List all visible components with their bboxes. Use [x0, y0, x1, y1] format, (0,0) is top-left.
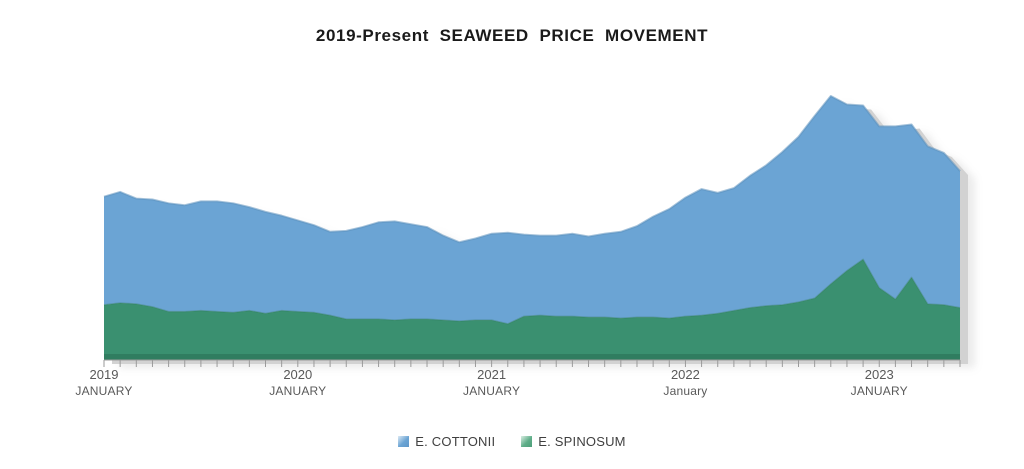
x-axis-label-2022: 2022January: [625, 366, 745, 400]
series-group: [104, 96, 960, 360]
x-axis-label-year: 2021: [432, 366, 552, 383]
chart-container: 2019-Present SEAWEED PRICE MOVEMENT: [0, 0, 1024, 469]
x-axis-label-year: 2022: [625, 366, 745, 383]
x-axis-label-month: JANUARY: [238, 383, 358, 400]
legend-item[interactable]: E. COTTONII: [398, 434, 495, 449]
legend-swatch-icon: [521, 436, 532, 447]
x-axis-label-2021: 2021JANUARY: [432, 366, 552, 400]
x-axis-label-month: JANUARY: [44, 383, 164, 400]
x-axis-label-year: 2020: [238, 366, 358, 383]
legend-label: E. SPINOSUM: [538, 434, 625, 449]
x-axis-labels: 2019JANUARY2020JANUARY2021JANUARY2022Jan…: [0, 366, 1024, 412]
x-axis-label-2019: 2019JANUARY: [44, 366, 164, 400]
x-axis-label-2023: 2023JANUARY: [819, 366, 939, 400]
x-axis-label-year: 2023: [819, 366, 939, 383]
legend-label: E. COTTONII: [415, 434, 495, 449]
area-chart-svg: [0, 0, 1024, 410]
x-axis-label-month: JANUARY: [432, 383, 552, 400]
x-axis-label-2020: 2020JANUARY: [238, 366, 358, 400]
x-axis-label-year: 2019: [44, 366, 164, 383]
plot-area: [0, 0, 1024, 410]
baseline-depth-band: [104, 354, 960, 360]
legend-item[interactable]: E. SPINOSUM: [521, 434, 625, 449]
x-axis-label-month: JANUARY: [819, 383, 939, 400]
x-axis-label-month: January: [625, 383, 745, 400]
chart-legend: E. COTTONIIE. SPINOSUM: [0, 434, 1024, 449]
legend-swatch-icon: [398, 436, 409, 447]
